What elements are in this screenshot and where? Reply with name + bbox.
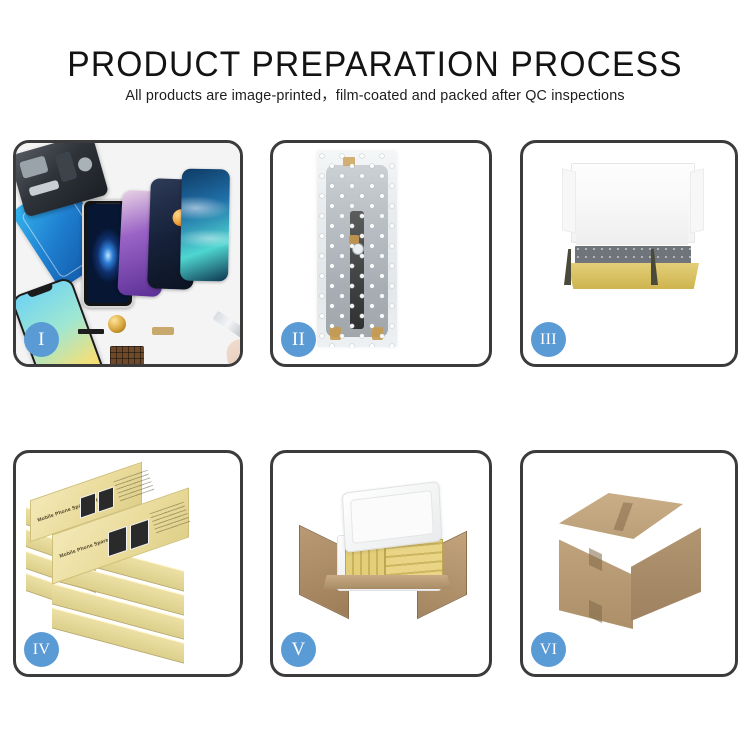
step-badge-3: III bbox=[531, 322, 566, 357]
step-badge-4: IV bbox=[24, 632, 59, 667]
tray-side-left bbox=[564, 249, 571, 285]
teal-phone-graphic bbox=[180, 169, 230, 282]
step-badge-6: VI bbox=[531, 632, 566, 667]
stacked-boxes-graphic: Mobile Phone Spare Parts Mobile Phone Sp… bbox=[24, 467, 194, 637]
foam-box-lid bbox=[342, 481, 442, 553]
step-panel-2[interactable]: II bbox=[270, 140, 492, 367]
step-panel-5[interactable]: V bbox=[270, 450, 492, 677]
carton-body bbox=[329, 583, 445, 655]
yellow-tray-front bbox=[568, 263, 699, 289]
flex-part-2 bbox=[152, 327, 174, 335]
step-panel-6[interactable]: VI bbox=[520, 450, 738, 677]
step-badge-5: V bbox=[281, 632, 316, 667]
product-preparation-infographic: PRODUCT PREPARATION PROCESS All products… bbox=[0, 0, 750, 750]
step-panel-4[interactable]: Mobile Phone Spare Parts Mobile Phone Sp… bbox=[13, 450, 243, 677]
speaker-part-icon bbox=[108, 315, 126, 333]
step-badge-1: I bbox=[24, 322, 59, 357]
flex-part-1 bbox=[78, 329, 104, 334]
step-badge-2: II bbox=[281, 322, 316, 357]
bubble-wrap-pouch-graphic bbox=[317, 151, 397, 347]
foam-sheet-graphic bbox=[576, 189, 688, 245]
chip-grid-graphic bbox=[110, 346, 144, 364]
step-panel-3[interactable]: III bbox=[520, 140, 738, 367]
step-panel-1[interactable]: I bbox=[13, 140, 243, 367]
steps-grid: I II bbox=[0, 0, 750, 750]
